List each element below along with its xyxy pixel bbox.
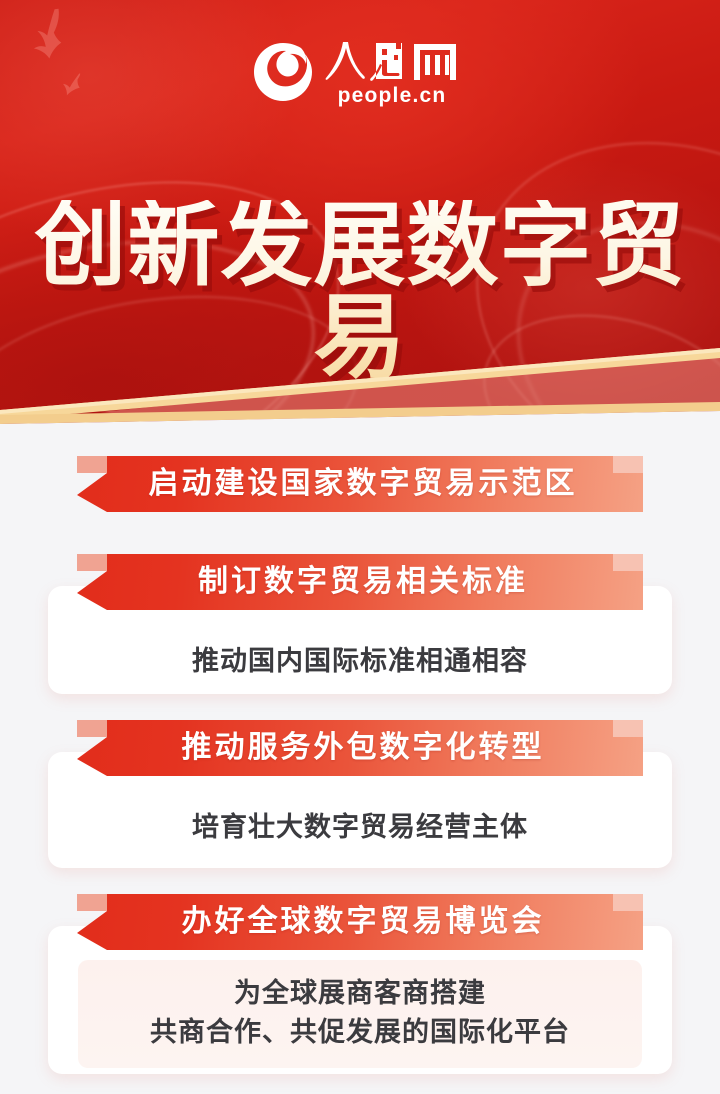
- ribbon-fold-right-icon: [613, 720, 643, 737]
- card-text-line: 为全球展商客商搭建: [88, 974, 632, 1013]
- card-ribbon: 启动建设国家数字贸易示范区: [77, 456, 643, 512]
- ribbon-fold-left-icon: [77, 720, 107, 737]
- card-ribbon: 制订数字贸易相关标准: [77, 554, 643, 610]
- ribbon-body: 推动服务外包数字化转型: [77, 720, 643, 776]
- card-text-line: 共商合作、共促发展的国际化平台: [88, 1013, 632, 1052]
- ribbon-fold-right-icon: [613, 894, 643, 911]
- ribbon-body: 制订数字贸易相关标准: [77, 554, 643, 610]
- card-list: 启动建设国家数字贸易示范区 制订数字贸易相关标准 推动国内国际标准相通相容 推动…: [0, 438, 720, 1084]
- card-body: 为全球展商客商搭建 共商合作、共促发展的国际化平台: [48, 950, 672, 1094]
- card-inner: 推动国内国际标准相通相容: [78, 628, 642, 697]
- card-text-line: 培育壮大数字贸易经营主体: [88, 808, 632, 847]
- ribbon-label: 推动服务外包数字化转型: [176, 733, 545, 763]
- ribbon-label: 制订数字贸易相关标准: [192, 567, 528, 597]
- card-body: 推动国内国际标准相通相容: [48, 610, 672, 723]
- gold-diagonal-band: [0, 318, 720, 438]
- ribbon-body: 启动建设国家数字贸易示范区: [77, 456, 643, 512]
- card-item[interactable]: 启动建设国家数字贸易示范区: [48, 456, 672, 540]
- ribbon-fold-left-icon: [77, 456, 107, 473]
- ribbon-fold-left-icon: [77, 554, 107, 571]
- people-globe-icon: [252, 41, 314, 103]
- card-text-line: 推动国内国际标准相通相容: [88, 642, 632, 681]
- ribbon-fold-right-icon: [613, 554, 643, 571]
- card-ribbon: 办好全球数字贸易博览会: [77, 894, 643, 950]
- site-logo[interactable]: people.cn: [252, 34, 468, 110]
- dove-icon: [25, 5, 78, 63]
- ribbon-body: 办好全球数字贸易博览会: [77, 894, 643, 950]
- brand-name-cn-icon: [324, 40, 460, 84]
- card-inner: 培育壮大数字贸易经营主体: [78, 794, 642, 863]
- card-item[interactable]: 推动服务外包数字化转型 培育壮大数字贸易经营主体: [48, 720, 672, 878]
- ribbon-label: 办好全球数字贸易博览会: [176, 907, 545, 937]
- card-inner: 为全球展商客商搭建 共商合作、共促发展的国际化平台: [78, 960, 642, 1068]
- dove-icon: [61, 71, 88, 99]
- card-item[interactable]: 办好全球数字贸易博览会 为全球展商客商搭建 共商合作、共促发展的国际化平台: [48, 894, 672, 1084]
- ribbon-fold-left-icon: [77, 894, 107, 911]
- header-banner: people.cn 创新发展数字贸易: [0, 0, 720, 438]
- card-item[interactable]: 制订数字贸易相关标准 推动国内国际标准相通相容: [48, 554, 672, 704]
- ribbon-fold-right-icon: [613, 456, 643, 473]
- card-ribbon: 推动服务外包数字化转型: [77, 720, 643, 776]
- ribbon-label: 启动建设国家数字贸易示范区: [143, 469, 578, 499]
- card-body: 培育壮大数字贸易经营主体: [48, 776, 672, 889]
- brand-name-en: people.cn: [338, 85, 447, 106]
